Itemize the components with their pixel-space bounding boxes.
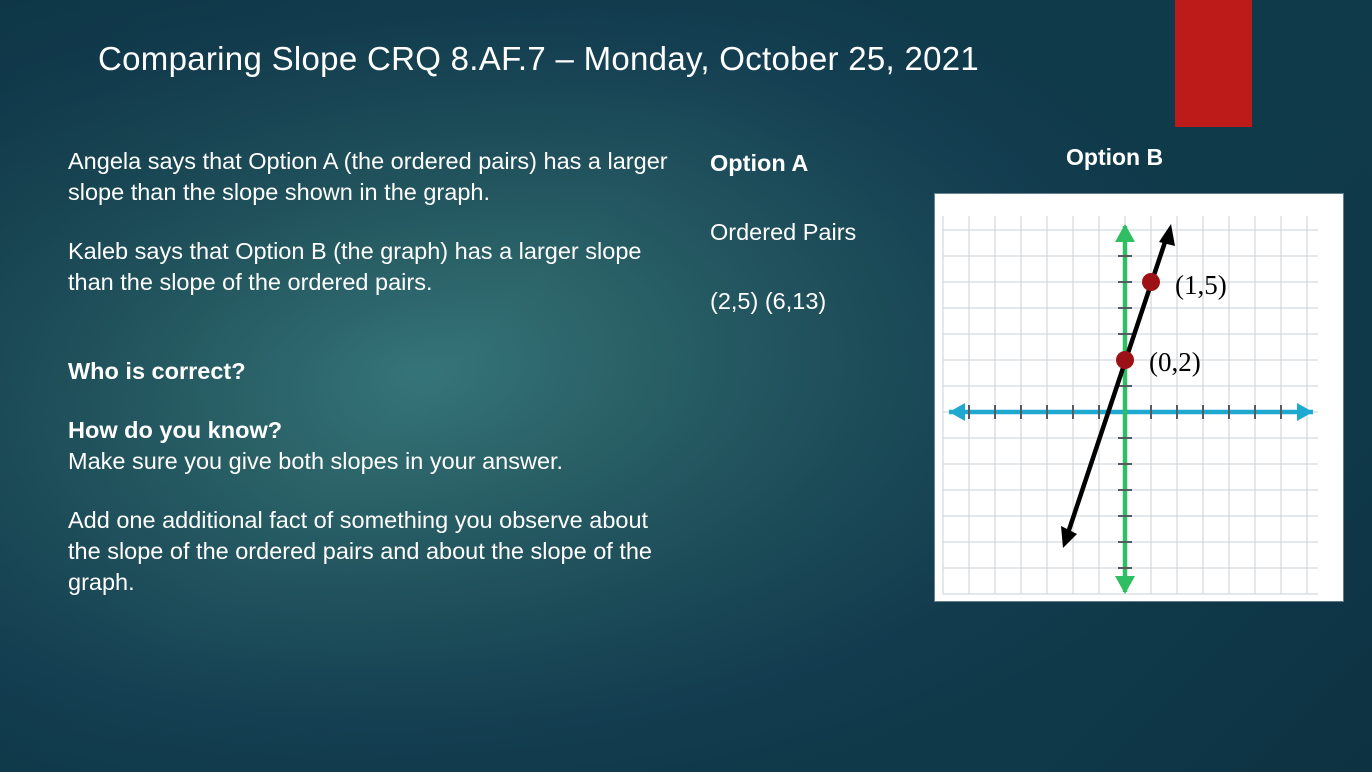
- question-who-is-correct: Who is correct?: [68, 356, 668, 387]
- angela-statement: Angela says that Option A (the ordered p…: [68, 146, 668, 208]
- instruction-additional-fact: Add one additional fact of something you…: [68, 505, 668, 598]
- option-b-heading: Option B: [1066, 144, 1163, 171]
- option-a-subheading: Ordered Pairs: [710, 217, 930, 248]
- point-0-2: [1116, 351, 1134, 369]
- spacer: [68, 326, 668, 356]
- option-a-ordered-pairs: (2,5) (6,13): [710, 286, 930, 317]
- coordinate-plane-svg: (0,2) (1,5): [935, 194, 1343, 601]
- kaleb-statement: Kaleb says that Option B (the graph) has…: [68, 236, 668, 298]
- instruction-both-slopes: Make sure you give both slopes in your a…: [68, 446, 668, 477]
- option-a-column: Option A Ordered Pairs (2,5) (6,13): [710, 148, 930, 317]
- left-text-column: Angela says that Option A (the ordered p…: [68, 146, 668, 598]
- graph-background: [935, 194, 1343, 601]
- page-title: Comparing Slope CRQ 8.AF.7 – Monday, Oct…: [98, 38, 1138, 80]
- option-b-graph-panel: (0,2) (1,5): [935, 194, 1343, 601]
- point-1-5: [1142, 273, 1160, 291]
- point-label-0-2: (0,2): [1149, 347, 1201, 377]
- accent-rectangle: [1175, 0, 1252, 127]
- question-how-do-you-know: How do you know?: [68, 415, 668, 446]
- option-a-heading: Option A: [710, 148, 930, 179]
- point-label-1-5: (1,5): [1175, 270, 1227, 300]
- slide: Comparing Slope CRQ 8.AF.7 – Monday, Oct…: [0, 0, 1372, 772]
